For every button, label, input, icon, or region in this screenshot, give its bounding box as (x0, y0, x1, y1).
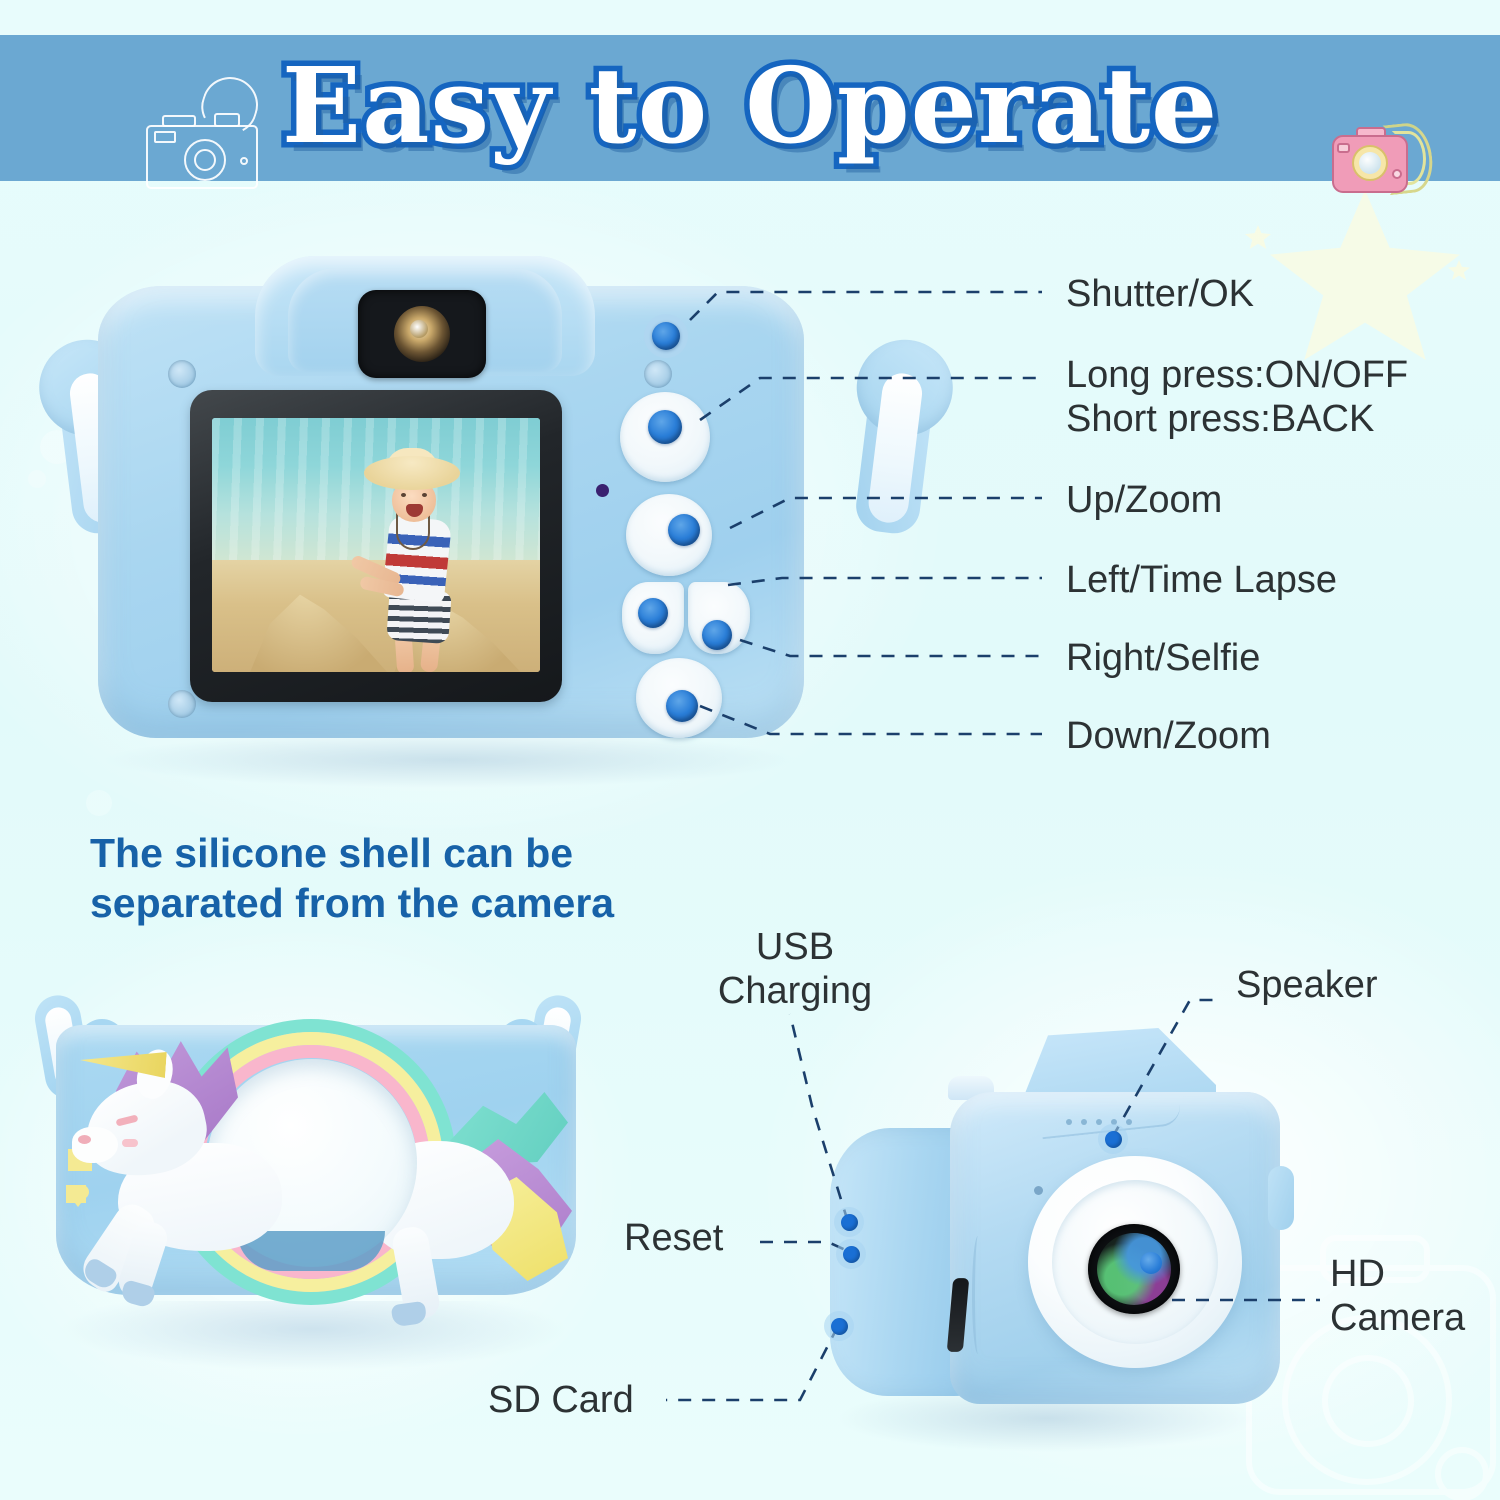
callout-label-speaker: Speaker (1236, 963, 1378, 1007)
shutter-button[interactable] (652, 322, 680, 350)
silicone-shell-note: The silicone shell can be separated from… (90, 828, 730, 928)
callout-label-right: Right/Selfie (1066, 636, 1260, 680)
unicorn-silicone-shell (18, 985, 648, 1385)
silicone-ear-right (784, 328, 958, 555)
reset-hole[interactable] (836, 1239, 866, 1269)
sd-card-anchor[interactable] (824, 1311, 854, 1341)
unicorn-figure (64, 1031, 314, 1301)
screw-top-right (644, 360, 672, 388)
screw-top-left (168, 360, 196, 388)
star-watermark (1270, 190, 1460, 360)
lcd-screen (212, 418, 540, 672)
camera2-shadow (836, 1396, 1256, 1452)
callout-label-power: Long press:ON/OFF Short press:BACK (1066, 353, 1408, 441)
star-watermark-small-right (1448, 260, 1470, 280)
camera-shadow (100, 732, 800, 788)
star-watermark-small-left (1245, 225, 1271, 249)
bubble-watermark-3 (86, 790, 112, 816)
callout-label-down: Down/Zoom (1066, 714, 1271, 758)
callout-label-reset: Reset (624, 1216, 723, 1260)
camera2-mic-hole (1034, 1186, 1043, 1195)
header-banner: Easy to Operate (0, 35, 1500, 181)
usb-charging-port[interactable] (834, 1207, 864, 1237)
shell-shadow (58, 1301, 568, 1371)
photo-child (356, 456, 476, 668)
indicator-led (596, 484, 609, 497)
power-back-nub[interactable] (648, 410, 682, 444)
camera2-strap-lug (1268, 1166, 1294, 1230)
callout-label-usb: USB Charging (700, 925, 890, 1013)
callout-label-sd-card: SD Card (488, 1378, 634, 1422)
callout-label-left: Left/Time Lapse (1066, 558, 1337, 602)
page-title: Easy to Operate (0, 44, 1500, 167)
front-lens-window (358, 290, 486, 378)
lcd-screen-frame (190, 390, 562, 702)
callout-label-shutter: Shutter/OK (1066, 272, 1254, 316)
hd-camera-anchor-dot (1140, 1252, 1162, 1274)
hd-camera-lens (1088, 1224, 1180, 1314)
callout-label-hd-camera: HD Camera (1330, 1252, 1465, 1340)
camera-rear-view (40, 262, 860, 782)
callout-label-up: Up/Zoom (1066, 478, 1222, 522)
right-nub[interactable] (702, 620, 732, 650)
screw-bottom-left (168, 690, 196, 718)
down-nub[interactable] (666, 690, 698, 722)
camera-front-view (800, 1020, 1300, 1450)
up-nub[interactable] (668, 514, 700, 546)
camera2-body-crease (972, 1236, 984, 1354)
pink-camera-icon (1330, 121, 1434, 199)
speaker-anchor[interactable] (1098, 1124, 1128, 1154)
infographic-page: Easy to Operate (0, 0, 1500, 1500)
left-nub[interactable] (638, 598, 668, 628)
